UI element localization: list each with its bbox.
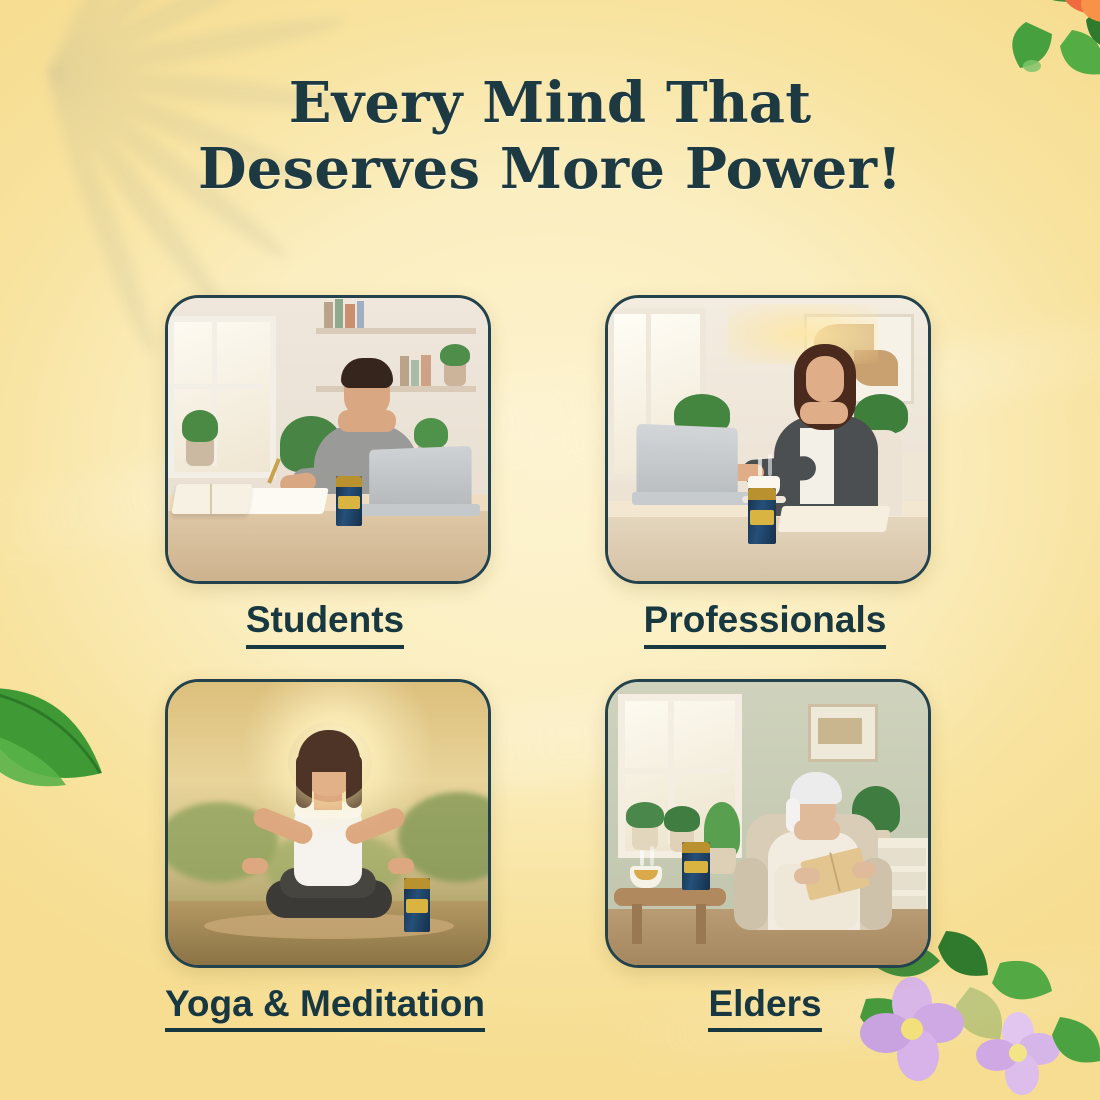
poster-canvas: Every Mind That Deserves More Power!	[0, 0, 1100, 1100]
card-caption: Elders	[605, 984, 925, 1033]
page-title: Every Mind That Deserves More Power!	[0, 70, 1100, 202]
card-caption: Professionals	[605, 600, 925, 649]
leaf-icon	[0, 665, 130, 825]
caption-text: Students	[246, 600, 404, 649]
students-photo	[165, 295, 491, 584]
elders-photo	[605, 679, 931, 968]
audience-card-elders[interactable]: Elders	[605, 679, 925, 1033]
headline-line-2: Deserves More Power!	[0, 136, 1100, 202]
caption-text: Yoga & Meditation	[165, 984, 485, 1033]
audience-card-yoga[interactable]: Yoga & Meditation	[165, 679, 485, 1033]
audience-grid: Students	[165, 295, 940, 1032]
professionals-photo	[605, 295, 931, 584]
audience-card-professionals[interactable]: Professionals	[605, 295, 925, 649]
card-caption: Students	[165, 600, 485, 649]
caption-text: Professionals	[644, 600, 887, 649]
product-jar	[748, 488, 776, 544]
product-jar	[336, 476, 362, 526]
card-caption: Yoga & Meditation	[165, 984, 485, 1033]
caption-text: Elders	[708, 984, 821, 1033]
headline-line-1: Every Mind That	[289, 70, 812, 136]
product-jar	[404, 878, 430, 932]
product-jar	[682, 842, 710, 890]
audience-card-students[interactable]: Students	[165, 295, 485, 649]
yoga-photo	[165, 679, 491, 968]
